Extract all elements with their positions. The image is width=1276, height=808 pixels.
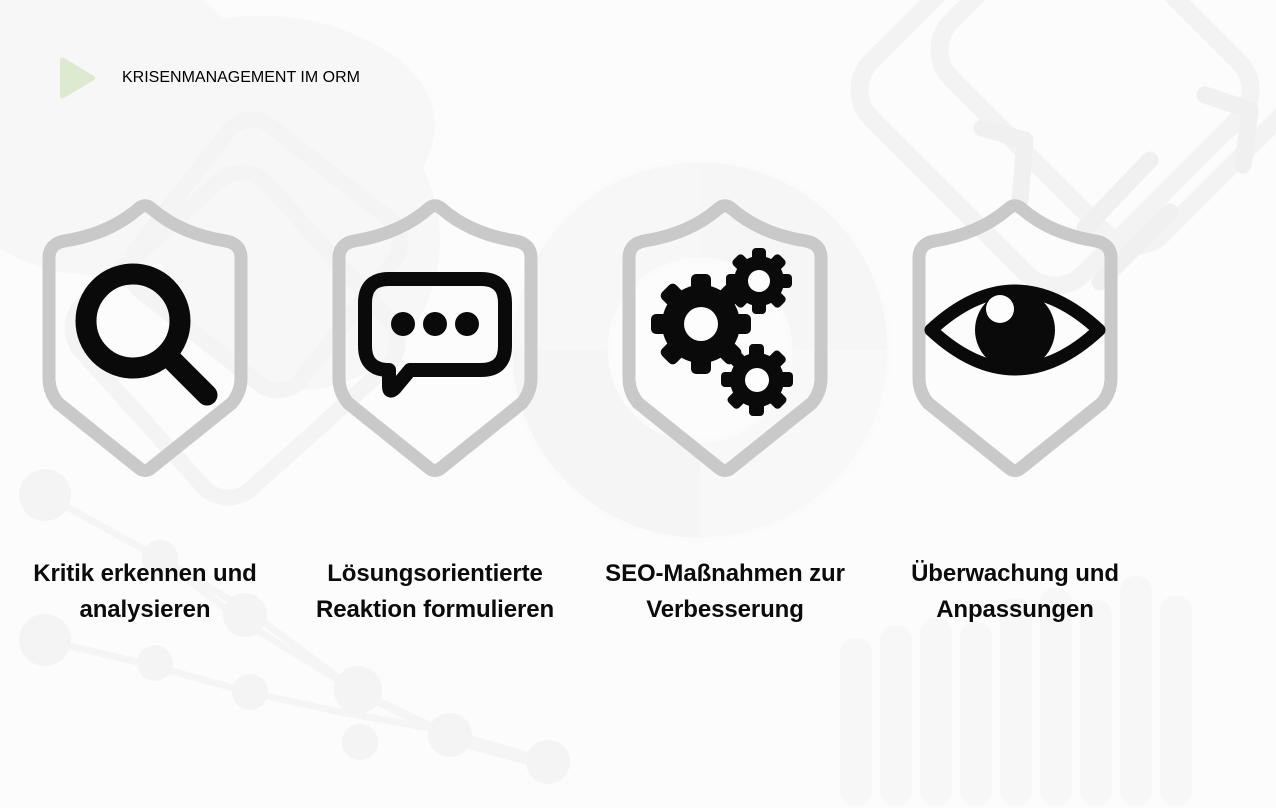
card-label: Überwachung und Anpassungen (877, 556, 1153, 628)
speech-bubble-dots-icon (365, 279, 505, 391)
card-kritik-erkennen[interactable]: Kritik erkennen und analysieren (0, 196, 290, 628)
shield-outline (327, 196, 543, 486)
shield-badge (37, 196, 253, 486)
card-label: Kritik erkennen und analysieren (0, 556, 290, 628)
page-title: KRISENMANAGEMENT IM ORM (122, 69, 360, 87)
shield-outline (907, 196, 1123, 486)
card-seo-massnahmen[interactable]: SEO-Maßnahmen zur Verbesserung (580, 196, 870, 628)
magnifier-search-icon (86, 274, 207, 395)
eye-monitor-icon (931, 290, 1099, 370)
card-ueberwachung-anpassungen[interactable]: Überwachung und Anpassungen (870, 196, 1160, 628)
shield-badge (327, 196, 543, 486)
card-label: Lösungsorientierte Reaktion formulieren (301, 556, 569, 628)
card-loesungsorientierte-reaktion[interactable]: Lösungsorientierte Reaktion formulieren (290, 196, 580, 628)
infographic-canvas: KRISENMANAGEMENT IM ORM Kritik erkennen … (0, 0, 1276, 808)
play-triangle-icon (48, 52, 100, 104)
shield-badge (617, 196, 833, 486)
shield-badge (907, 196, 1123, 486)
cards-row: Kritik erkennen und analysieren Lösungso… (0, 196, 1276, 628)
shield-outline (617, 196, 833, 486)
shield-outline (37, 196, 253, 486)
gears-settings-icon (651, 248, 793, 416)
card-label: SEO-Maßnahmen zur Verbesserung (590, 556, 860, 628)
header: KRISENMANAGEMENT IM ORM (48, 52, 360, 104)
